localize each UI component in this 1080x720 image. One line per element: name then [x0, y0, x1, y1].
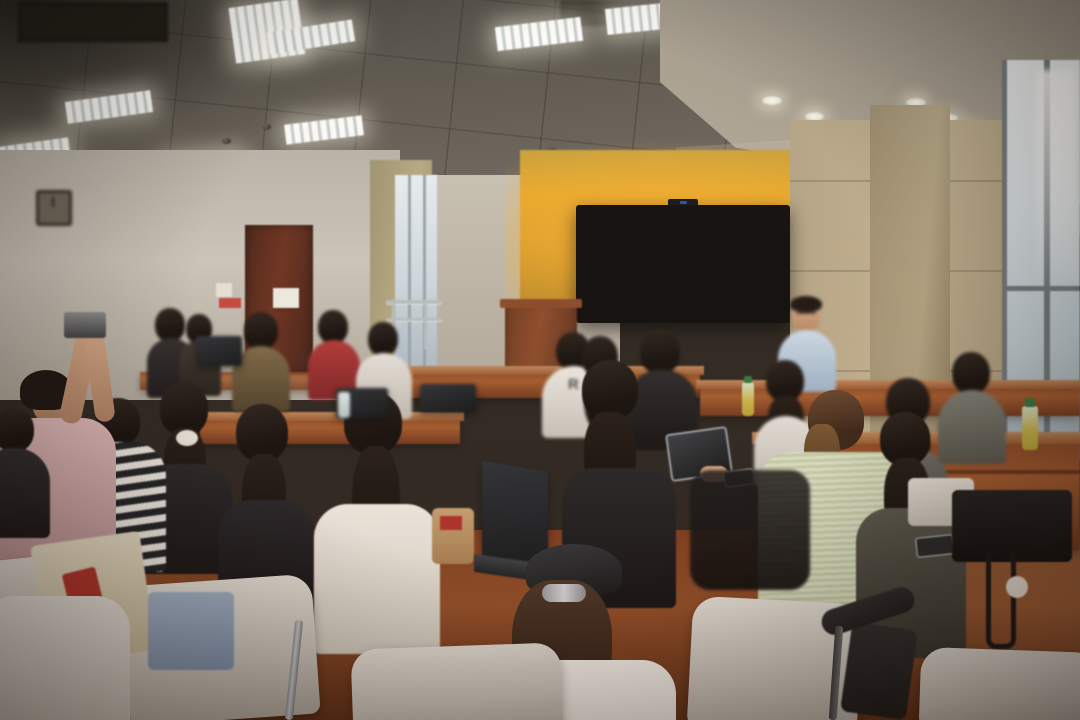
window-middle: [395, 175, 437, 370]
water-bottle: [1022, 406, 1038, 450]
bag-charm: [1006, 576, 1028, 598]
ceiling-speaker: [222, 138, 231, 144]
ceiling-speaker: [262, 124, 271, 130]
bag-logo: [440, 516, 462, 530]
blue-bag: [148, 592, 234, 670]
laptop-screen[interactable]: [420, 384, 476, 412]
office-chair[interactable]: [840, 622, 918, 720]
audience-chair[interactable]: [919, 647, 1080, 720]
wall-sign: [216, 283, 232, 297]
beaded-hair-tie: [542, 584, 586, 602]
bottle-cap: [744, 376, 752, 383]
phone-on-desk[interactable]: [915, 534, 955, 558]
audience-chair[interactable]: [350, 642, 563, 720]
cup: [338, 392, 350, 418]
ceiling-vent: [18, 2, 168, 42]
desk-row-top: [196, 412, 464, 421]
laptop-screen[interactable]: [196, 336, 242, 366]
wall-sign-red: [219, 298, 241, 308]
phone-camera[interactable]: [64, 312, 106, 338]
presenter-glasses: [796, 312, 816, 318]
window-railing-post: [424, 300, 427, 348]
bottle-cap: [1025, 398, 1035, 407]
door-notice-paper: [273, 288, 299, 308]
water-bottle: [742, 382, 754, 416]
lectern-top: [500, 299, 582, 308]
ceiling-downlight: [762, 96, 782, 105]
bag-strap: [986, 548, 1016, 649]
window-glare: [1036, 70, 1076, 370]
seminar-room-photo: R: [0, 0, 1080, 720]
wall-clock: [36, 190, 72, 226]
hair-scrunchie: [176, 430, 198, 446]
foreground-silhouette: [690, 470, 810, 590]
presentation-display[interactable]: [576, 205, 790, 323]
